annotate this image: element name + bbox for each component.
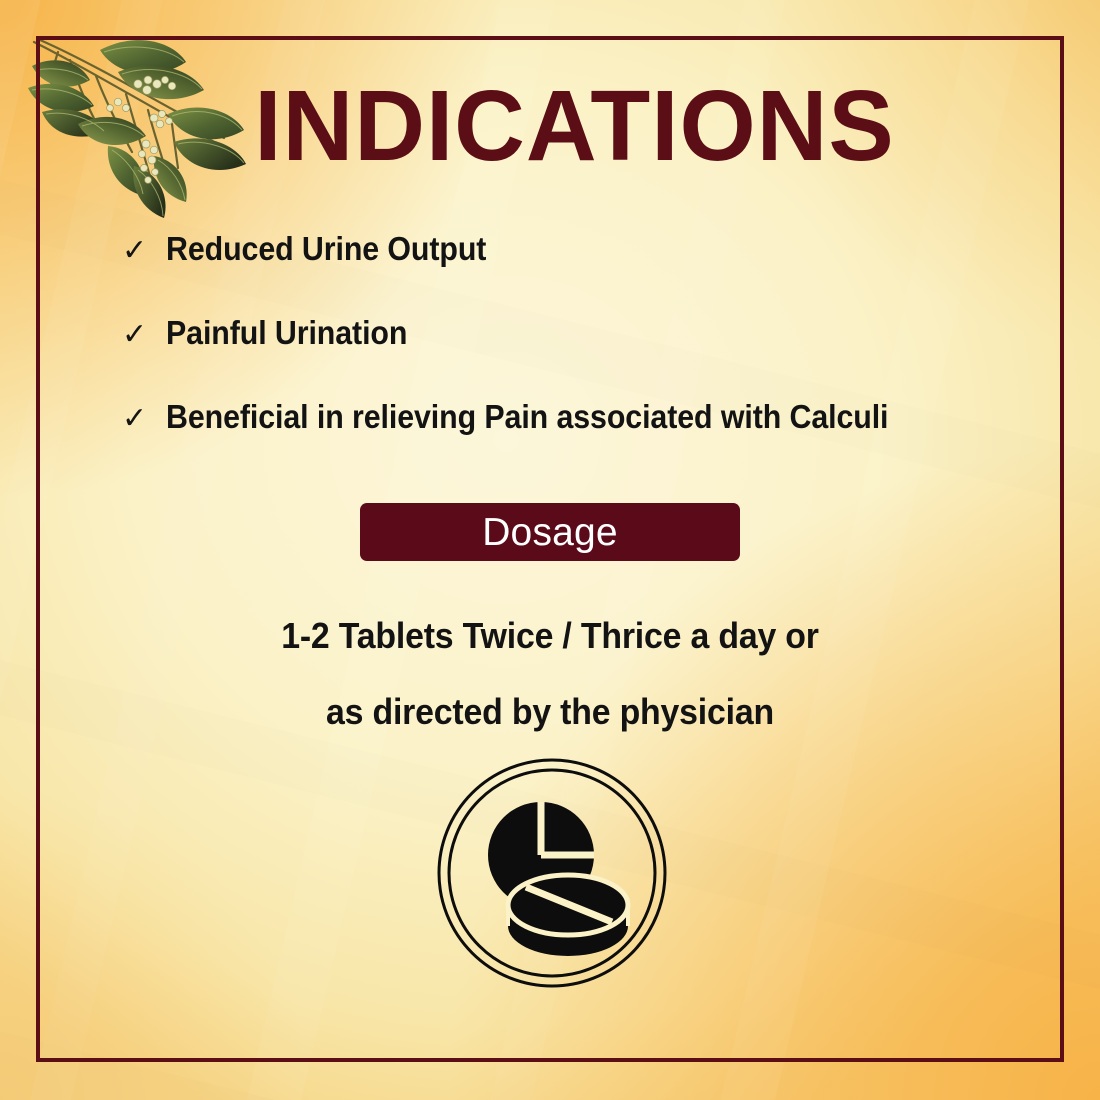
list-item-label: Beneficial in relieving Pain associated … — [166, 400, 888, 433]
list-item: ✓ Painful Urination — [122, 316, 1022, 400]
list-item-label: Painful Urination — [166, 316, 407, 349]
check-icon: ✓ — [122, 236, 166, 266]
list-item: ✓ Beneficial in relieving Pain associate… — [122, 400, 1022, 484]
list-item-label: Reduced Urine Output — [166, 232, 486, 265]
dosage-badge: Dosage — [360, 503, 740, 561]
list-item: ✓ Reduced Urine Output — [122, 232, 1022, 316]
dosage-line-1: 1-2 Tablets Twice / Thrice a day or — [33, 598, 1067, 674]
dosage-instructions: 1-2 Tablets Twice / Thrice a day or as d… — [0, 598, 1100, 750]
check-icon: ✓ — [122, 320, 166, 350]
page-title: INDICATIONS — [11, 72, 1089, 180]
indications-list: ✓ Reduced Urine Output ✓ Painful Urinati… — [122, 232, 1022, 484]
check-icon: ✓ — [122, 404, 166, 434]
tablet-pills-icon — [434, 755, 670, 991]
dosage-badge-label: Dosage — [482, 513, 618, 552]
dosage-line-2: as directed by the physician — [33, 674, 1067, 750]
indications-poster: INDICATIONS ✓ Reduced Urine Output ✓ Pai… — [0, 0, 1100, 1100]
